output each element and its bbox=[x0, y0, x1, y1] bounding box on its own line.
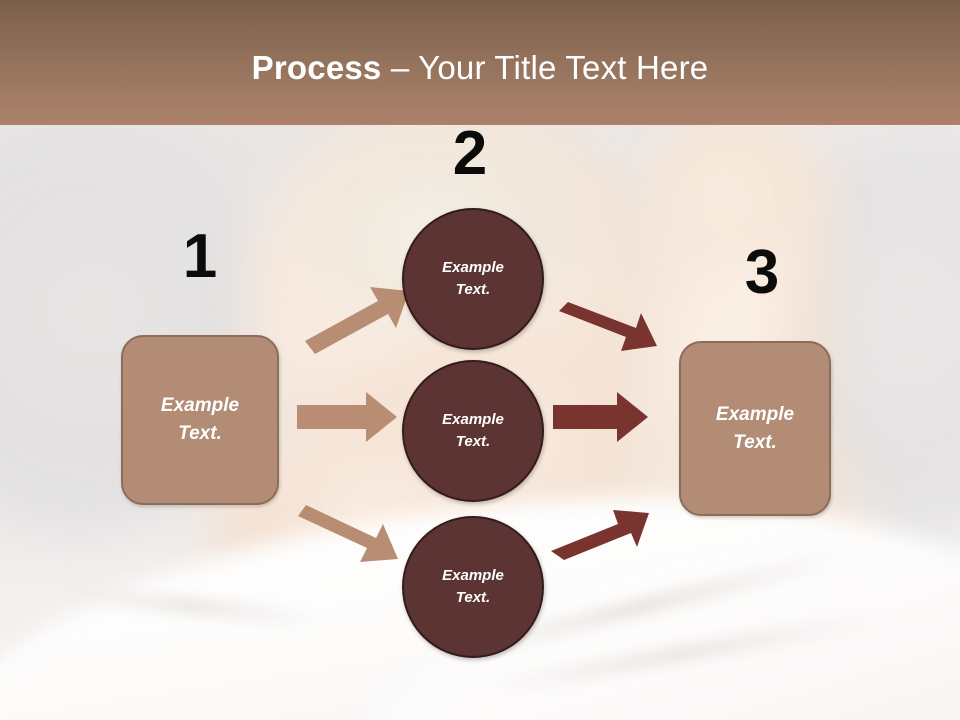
box-start-line1: Example bbox=[161, 392, 239, 420]
box-end[interactable]: Example Text. bbox=[679, 341, 831, 516]
box-start[interactable]: Example Text. bbox=[121, 335, 279, 505]
page-title: Process – Your Title Text Here bbox=[0, 48, 960, 88]
box-start-line2: Text. bbox=[161, 420, 239, 448]
process-circle-1-line1: Example bbox=[442, 257, 504, 279]
process-circle-1[interactable]: Example Text. bbox=[402, 208, 544, 350]
process-circle-2-line1: Example bbox=[442, 409, 504, 431]
slide-canvas: Process – Your Title Text Here 1 2 3 bbox=[0, 0, 960, 720]
process-circle-1-line2: Text. bbox=[442, 279, 504, 301]
process-circle-3[interactable]: Example Text. bbox=[402, 516, 544, 658]
process-circle-3-line1: Example bbox=[442, 565, 504, 587]
baby-fist-blur bbox=[650, 118, 825, 258]
process-circle-3-text: Example Text. bbox=[442, 565, 504, 609]
box-end-line2: Text. bbox=[716, 429, 794, 457]
page-title-rest: – Your Title Text Here bbox=[381, 49, 708, 86]
process-circle-1-text: Example Text. bbox=[442, 257, 504, 301]
page-title-bold: Process bbox=[252, 49, 382, 86]
box-end-line1: Example bbox=[716, 401, 794, 429]
box-end-text: Example Text. bbox=[716, 401, 794, 457]
step-number-3: 3 bbox=[722, 242, 802, 304]
step-number-2: 2 bbox=[430, 123, 510, 185]
step-number-1: 1 bbox=[160, 226, 240, 288]
box-start-text: Example Text. bbox=[161, 392, 239, 448]
title-bar: Process – Your Title Text Here bbox=[0, 0, 960, 125]
process-circle-2-text: Example Text. bbox=[442, 409, 504, 453]
process-circle-2-line2: Text. bbox=[442, 431, 504, 453]
process-circle-2[interactable]: Example Text. bbox=[402, 360, 544, 502]
process-circle-3-line2: Text. bbox=[442, 587, 504, 609]
